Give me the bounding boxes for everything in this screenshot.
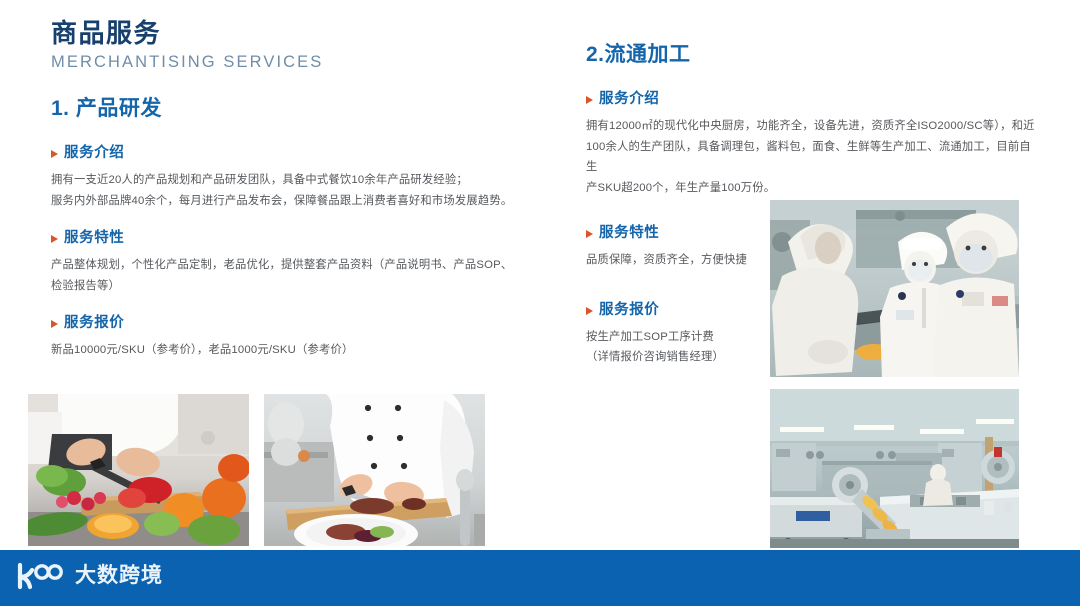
subheading-service-pricing: 服务报价 xyxy=(51,314,551,333)
section-title-product-rd: 1. 产品研发 xyxy=(51,96,551,122)
subheading-service-features: 服务特性 xyxy=(586,224,796,243)
triangle-bullet-icon xyxy=(51,235,58,243)
body-product-rd-intro: 拥有一支近20人的产品规划和产品研发团队，具备中式餐饮10余年产品研发经验； 服… xyxy=(51,170,551,211)
k-infinity-logo-icon xyxy=(14,562,66,590)
footer-bar: 大数跨境 xyxy=(0,550,1080,606)
subheading-label: 服务介绍 xyxy=(64,144,124,163)
subheading-service-features: 服务特性 xyxy=(51,229,551,248)
triangle-bullet-icon xyxy=(586,230,593,238)
body-distribution-features: 品质保障，资质齐全，方便快捷 xyxy=(586,250,796,271)
block-distribution-features: 服务特性 品质保障，资质齐全，方便快捷 xyxy=(586,224,796,270)
triangle-bullet-icon xyxy=(586,96,593,104)
body-product-rd-features: 产品整体规划，个性化产品定制，老品优化，提供整套产品资料（产品说明书、产品SOP… xyxy=(51,255,551,296)
slide-canvas: 商品服务 MERCHANTISING SERVICES 1. 产品研发 服务介绍… xyxy=(0,0,1080,606)
subheading-label: 服务报价 xyxy=(64,314,124,333)
block-distribution-intro: 服务介绍 拥有12000㎡的现代化中央厨房，功能齐全，设备先进，资质齐全ISO2… xyxy=(586,90,1038,198)
subheading-label: 服务报价 xyxy=(599,301,659,320)
page-subtitle: MERCHANTISING SERVICES xyxy=(51,53,323,73)
block-product-rd-features: 服务特性 产品整体规划，个性化产品定制，老品优化，提供整套产品资料（产品说明书、… xyxy=(51,229,551,296)
subheading-service-intro: 服务介绍 xyxy=(586,90,1038,109)
photo-chef-chopping-vegetables-graphic xyxy=(28,394,249,546)
body-distribution-intro: 拥有12000㎡的现代化中央厨房，功能齐全，设备先进，资质齐全ISO2000/S… xyxy=(586,116,1038,198)
block-product-rd-pricing: 服务报价 新品10000元/SKU（参考价），老品1000元/SKU（参考价） xyxy=(51,314,551,360)
k-infinity-logo-glyph xyxy=(14,562,66,590)
photo-central-kitchen-workshop-graphic xyxy=(770,389,1019,548)
photo-chef-chopping-vegetables xyxy=(28,394,249,546)
body-product-rd-pricing: 新品10000元/SKU（参考价），老品1000元/SKU（参考价） xyxy=(51,340,551,361)
block-product-rd-intro: 服务介绍 拥有一支近20人的产品规划和产品研发团队，具备中式餐饮10余年产品研发… xyxy=(51,144,551,211)
body-distribution-pricing: 按生产加工SOP工序计费 （详情报价咨询销售经理） xyxy=(586,327,796,368)
triangle-bullet-icon xyxy=(51,320,58,328)
subheading-service-intro: 服务介绍 xyxy=(51,144,551,163)
block-distribution-pricing: 服务报价 按生产加工SOP工序计费 （详情报价咨询销售经理） xyxy=(586,301,796,368)
footer-logo[interactable]: 大数跨境 xyxy=(14,562,163,590)
triangle-bullet-icon xyxy=(51,150,58,158)
photo-chef-plating-meat-graphic xyxy=(264,394,485,546)
subheading-label: 服务特性 xyxy=(64,229,124,248)
triangle-bullet-icon xyxy=(586,307,593,315)
section-title-distribution-processing: 2.流通加工 xyxy=(586,42,1038,68)
photo-sanitary-workers-line xyxy=(770,200,1019,377)
footer-logo-text: 大数跨境 xyxy=(75,562,163,590)
subheading-label: 服务特性 xyxy=(599,224,659,243)
page-title: 商品服务 xyxy=(51,18,323,49)
subheading-service-pricing: 服务报价 xyxy=(586,301,796,320)
photo-chef-plating-meat xyxy=(264,394,485,546)
slide-header: 商品服务 MERCHANTISING SERVICES xyxy=(51,18,323,72)
subheading-label: 服务介绍 xyxy=(599,90,659,109)
photo-sanitary-workers-line-graphic xyxy=(770,200,1019,377)
column-left: 1. 产品研发 服务介绍 拥有一支近20人的产品规划和产品研发团队，具备中式餐饮… xyxy=(51,96,551,361)
photo-central-kitchen-workshop xyxy=(770,389,1019,548)
